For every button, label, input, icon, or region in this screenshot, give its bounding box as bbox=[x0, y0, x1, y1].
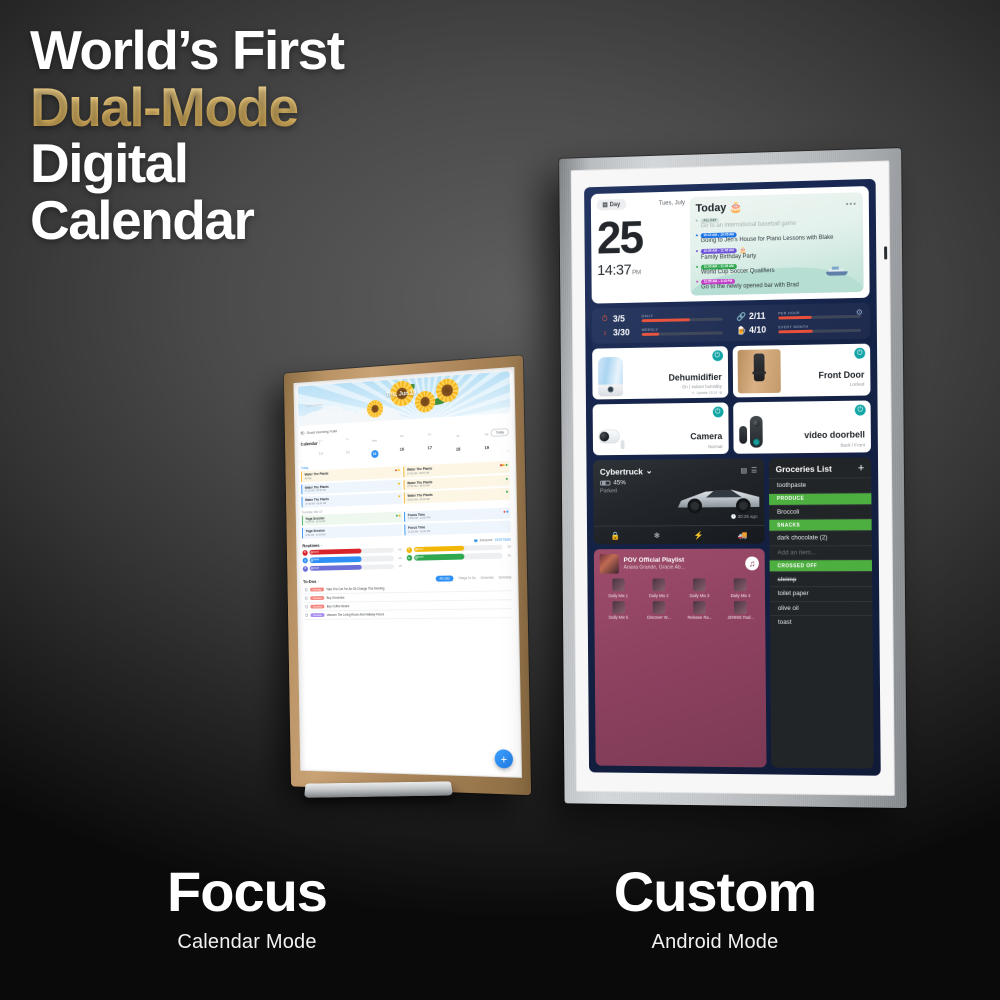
today-event[interactable]: ALL DAY Go to an international baseball … bbox=[696, 214, 857, 230]
custom-screen[interactable]: ▤ Day Tues, July 25 14:37PM bbox=[584, 179, 881, 776]
routine-row[interactable]: D David 4/6 bbox=[303, 555, 402, 563]
custom-subtitle: Android Mode bbox=[570, 931, 860, 954]
routine-row[interactable]: D David 3/5 bbox=[406, 544, 511, 553]
power-icon[interactable]: ⏻ bbox=[712, 407, 723, 418]
wood-frame: Thu, Jun 19 Yorks Farm 🌤 Good morning Yu… bbox=[284, 355, 531, 795]
device-card-camera[interactable]: ⏻ Camera Normal bbox=[593, 402, 729, 455]
tab-all-lists[interactable]: All Lists bbox=[436, 575, 454, 581]
day-and-today-widget[interactable]: ▤ Day Tues, July 25 14:37PM bbox=[591, 186, 870, 304]
device-name: video doorbell bbox=[804, 429, 865, 440]
habit-icon: 🍺 bbox=[736, 326, 745, 335]
battery-icon bbox=[600, 480, 611, 485]
device-name: Front Door bbox=[818, 370, 864, 381]
day-widget[interactable]: ▤ Day Tues, July 25 14:37PM bbox=[597, 197, 686, 297]
todo-text: Buy Coffee Beans bbox=[327, 604, 350, 608]
device-status: · On | Indoor humidity bbox=[679, 384, 722, 390]
day-cell[interactable]: Sa 18 bbox=[450, 434, 466, 455]
event-card[interactable]: Water The Plants 08:00 AM - 09:00 AM bbox=[404, 488, 510, 504]
focus-subtitle: Calendar Mode bbox=[112, 931, 382, 954]
custom-mode-device[interactable]: ▤ Day Tues, July 25 14:37PM bbox=[559, 148, 907, 808]
checkbox[interactable] bbox=[305, 588, 308, 591]
groceries-title: Groceries List bbox=[776, 464, 832, 474]
custom-title: Custom bbox=[570, 864, 860, 920]
day-cell[interactable]: Tue 14· bbox=[340, 438, 355, 462]
playlist-name: POV Official Playlist bbox=[624, 557, 741, 564]
next-week-arrow[interactable]: › bbox=[508, 448, 509, 453]
today-event[interactable]: 10:15 AM – 10:45 AM Going to Jen's House… bbox=[696, 229, 857, 245]
habit-icon: ♀ bbox=[601, 328, 610, 337]
smart-home-widget[interactable]: ⏻ Dehumidifier · On | Indoor humidity ↻ … bbox=[592, 344, 871, 456]
greeting-text: Good morning Yuki! bbox=[306, 428, 337, 435]
spotify-icon[interactable]: ♫ bbox=[745, 556, 759, 570]
list-item[interactable]: toast bbox=[770, 615, 872, 630]
avatar: D bbox=[406, 555, 412, 561]
doorbell-icon bbox=[739, 416, 767, 450]
focus-screen[interactable]: Thu, Jun 19 Yorks Farm 🌤 Good morning Yu… bbox=[293, 367, 522, 778]
focus-title: Focus bbox=[112, 864, 382, 920]
headline-line-4: Calendar bbox=[30, 192, 500, 249]
device-name: Camera bbox=[690, 431, 722, 441]
device-card-doorbell[interactable]: ⏻ video doorbell Back / Front bbox=[733, 400, 871, 453]
today-event[interactable]: 11:05 AM – 11:45 AM World Cup Soccer Qua… bbox=[696, 261, 857, 276]
device-card-dehumidifier[interactable]: ⏻ Dehumidifier · On | Indoor humidity ↻ … bbox=[592, 346, 728, 399]
list-item[interactable]: toilet paper bbox=[770, 586, 872, 601]
category-header: CROSSED OFF bbox=[770, 559, 872, 571]
mix-item[interactable]: Daily Mix 5 bbox=[600, 601, 637, 620]
todo-tag: Someday bbox=[310, 588, 324, 592]
device-update: ↻ Update 13:14 ⧉ bbox=[692, 391, 722, 395]
avatar: D bbox=[303, 558, 308, 564]
day-cell[interactable]: Mon 13· bbox=[313, 439, 328, 463]
habit-value: 4/10 bbox=[749, 325, 774, 335]
mix-item[interactable]: Release Ra... bbox=[681, 601, 718, 620]
vehicle-name[interactable]: Cybertruck ⌄ bbox=[600, 465, 653, 476]
device-status: Back / Front bbox=[840, 442, 865, 447]
list-item[interactable]: toothpaste bbox=[769, 477, 871, 492]
vehicle-widget[interactable]: Cybertruck ⌄ ▤ ☰ 45% bbox=[593, 458, 764, 544]
day-cell[interactable]: Fri 17· bbox=[422, 433, 438, 457]
climate-icon[interactable]: ❄ bbox=[654, 531, 661, 540]
refresh-icon: ↻ bbox=[692, 391, 695, 395]
add-item-button[interactable]: + bbox=[858, 464, 864, 473]
headline: World’s First Dual-Mode Digital Calendar bbox=[30, 22, 500, 249]
habit-icon: 🔗 bbox=[736, 312, 745, 321]
routines-tasks: 10/15 Tasks bbox=[494, 537, 510, 541]
bezel: ▤ Day Tues, July 25 14:37PM bbox=[571, 160, 895, 795]
calendar-icon: ▤ bbox=[602, 201, 607, 208]
avatar: D bbox=[406, 547, 412, 553]
prev-week-arrow[interactable]: ‹ bbox=[301, 459, 302, 464]
device-stand bbox=[304, 781, 453, 797]
device-status: Normal bbox=[708, 444, 722, 449]
custom-mode-label: Custom Android Mode bbox=[570, 864, 860, 954]
day-number: 25 bbox=[597, 215, 686, 260]
menu-icon[interactable]: ☰ bbox=[751, 466, 757, 474]
todo-tag: Groceries bbox=[310, 596, 324, 600]
category-header: SNACKS bbox=[769, 518, 871, 531]
habit-icon: ⏱ bbox=[600, 314, 609, 324]
headline-line-1: World’s First bbox=[30, 22, 500, 79]
routine-row[interactable]: D David 4/6 bbox=[302, 547, 401, 555]
habit-stat[interactable]: 🔗 2/11 PER HOUR bbox=[736, 309, 861, 321]
clock-icon: 🕐 bbox=[731, 514, 737, 519]
cake-emoji-icon: 🎂 bbox=[729, 202, 742, 214]
todo-text: Buy Groceries bbox=[327, 596, 345, 600]
list-item[interactable]: dark chocolate (2) bbox=[769, 530, 871, 545]
tab-groceries[interactable]: Groceries bbox=[481, 576, 494, 580]
music-widget[interactable]: POV Official Playlist Ariana Grande, Gra… bbox=[594, 549, 767, 768]
routine-row[interactable]: D David 3/5 bbox=[406, 552, 511, 560]
add-item-input[interactable]: Add an item... bbox=[769, 545, 871, 560]
more-options-icon[interactable]: ••• bbox=[846, 199, 857, 208]
power-icon[interactable]: ⏻ bbox=[712, 350, 723, 361]
day-widget-date: Tues, July bbox=[659, 200, 685, 207]
headline-line-2-accent: Dual-Mode bbox=[30, 79, 500, 136]
charge-icon[interactable]: ⚡ bbox=[694, 531, 704, 540]
focus-mode-device[interactable]: Thu, Jun 19 Yorks Farm 🌤 Good morning Yu… bbox=[284, 355, 531, 795]
silver-frame: ▤ Day Tues, July 25 14:37PM bbox=[559, 148, 907, 808]
people-icon: 👥 bbox=[474, 538, 478, 542]
habit-stat[interactable]: 🍺 4/10 EVERY MONTH bbox=[736, 323, 861, 335]
category-header: PRODUCE bbox=[769, 492, 871, 505]
power-icon[interactable]: ⏻ bbox=[855, 405, 866, 416]
day-cell-selected[interactable]: Wed 15 bbox=[367, 439, 383, 460]
external-link-icon[interactable]: ⧉ bbox=[719, 391, 722, 395]
device-status: Locked bbox=[850, 382, 865, 387]
habit-stat[interactable]: ♀ 3/30 WEEKLY bbox=[601, 326, 723, 338]
mix-item[interactable]: Discover W... bbox=[640, 601, 677, 620]
door-lock-icon bbox=[737, 349, 780, 393]
tab-someday[interactable]: Someday bbox=[499, 575, 512, 579]
todo-tabs[interactable]: All Lists Things To Do Groceries Someday bbox=[436, 574, 512, 581]
power-button[interactable] bbox=[884, 246, 887, 259]
todo-tag: Groceries bbox=[310, 605, 324, 609]
clock-time: 14:37PM bbox=[597, 260, 685, 279]
album-cover bbox=[600, 554, 619, 574]
habit-value: 2/11 bbox=[749, 311, 774, 321]
event-badge: 10:55 AM – 11:45 AM bbox=[701, 248, 737, 254]
chevron-down-icon[interactable]: ⌄ bbox=[646, 465, 653, 476]
today-title: Today 🎂 bbox=[696, 201, 743, 215]
day-view-chip[interactable]: ▤ Day bbox=[597, 199, 626, 211]
today-widget[interactable]: Today 🎂 ••• ALL DAY Go to an internation… bbox=[690, 192, 864, 295]
vehicle-controls[interactable]: 🔒 ❄ ⚡ 🚚 bbox=[594, 525, 765, 545]
trunk-icon[interactable]: 🚚 bbox=[738, 530, 748, 539]
device-card-front-door[interactable]: ⏻ Front Door Locked bbox=[732, 344, 870, 398]
dehumidifier-icon bbox=[598, 357, 623, 397]
day-cell[interactable]: Thu 16·· bbox=[394, 435, 410, 459]
habit-value: 3/30 bbox=[613, 327, 638, 337]
power-icon[interactable]: ⏻ bbox=[854, 348, 865, 359]
mix-item[interactable]: Daily Mix 2 bbox=[640, 578, 677, 597]
sun-emoji-icon: 🌤 bbox=[300, 430, 304, 435]
lock-icon[interactable]: 🔒 bbox=[610, 531, 620, 540]
todos-heading: To-Dos › bbox=[303, 579, 319, 584]
avatar: D bbox=[303, 566, 308, 572]
todo-list: Someday Take The Car For An Oil Change T… bbox=[297, 582, 519, 620]
day-cell[interactable]: Sat 19 bbox=[478, 433, 495, 455]
mix-item[interactable]: Daily Mix 4 bbox=[722, 578, 759, 597]
list-item[interactable]: Broccoli bbox=[769, 504, 871, 519]
mix-item[interactable]: Daily Mix 3 bbox=[681, 578, 718, 597]
add-button[interactable]: + bbox=[495, 749, 514, 768]
vehicle-last-update: 🕐 30:26 ago bbox=[731, 514, 758, 520]
todo-text: Vacuum The Living Room And Hallway Floor… bbox=[327, 613, 385, 617]
bottom-widgets-row: Cybertruck ⌄ ▤ ☰ 45% bbox=[593, 457, 874, 768]
list-item-crossed[interactable]: shrimp bbox=[770, 571, 872, 586]
event-card[interactable]: Focus Time 11:00 AM - 01:00 PM bbox=[404, 521, 510, 536]
cake-emoji-icon: 🎂 bbox=[739, 246, 746, 253]
routines-list: D David 4/6 D David 3/5 D David 4/6 D Da… bbox=[302, 544, 511, 574]
list-item[interactable]: olive oil bbox=[770, 601, 872, 616]
camera-icon bbox=[599, 425, 628, 449]
list-item[interactable]: Someday Vacuum The Living Room And Hallw… bbox=[304, 609, 513, 620]
checkbox[interactable] bbox=[305, 605, 308, 608]
cybertruck-illustration bbox=[678, 477, 760, 515]
playlist-artists: Ariana Grande, Gracie Ab... bbox=[624, 564, 741, 570]
checkbox[interactable] bbox=[305, 614, 308, 617]
message-icon[interactable]: ▤ bbox=[741, 466, 748, 474]
routines-heading: Routines › bbox=[302, 543, 322, 548]
habit-stats-widget[interactable]: ⚙ ⏱ 3/5 DAILY 🔗 2/11 PER HOUR bbox=[592, 303, 870, 344]
habit-value: 3/5 bbox=[613, 313, 638, 323]
event-card[interactable]: Water The Plants 07:45 AM - 08:45 AM bbox=[301, 492, 402, 507]
mix-grid[interactable]: Daily Mix 1 Daily Mix 2 Daily Mix 3 Dail… bbox=[600, 578, 760, 620]
headline-line-3: Digital bbox=[30, 135, 500, 192]
tab-things-to-do[interactable]: Things To Do bbox=[458, 576, 476, 580]
routine-row[interactable]: D David 4/6 bbox=[303, 563, 402, 571]
event-card[interactable]: Yoga Session 9:30 AM - 10:30 AM bbox=[302, 524, 403, 538]
today-event[interactable]: 10:55 AM – 11:45 AM 🎂 Family Birthday Pa… bbox=[696, 244, 857, 261]
habit-stat[interactable]: ⏱ 3/5 DAILY bbox=[600, 312, 722, 324]
mix-item[interactable]: Daily Mix 1 bbox=[600, 579, 637, 598]
calendar-banner: Thu, Jun 19 Yorks Farm bbox=[298, 371, 511, 426]
todo-text: Take The Car For An Oil Change This Morn… bbox=[326, 586, 384, 591]
avatar: D bbox=[302, 550, 307, 556]
device-name: Dehumidifier bbox=[669, 372, 722, 383]
routines-assignee: Everyone bbox=[480, 538, 493, 542]
checkbox[interactable] bbox=[305, 597, 308, 600]
groceries-widget[interactable]: Groceries List + toothpaste PRODUCE Broc… bbox=[769, 457, 874, 768]
todo-tag: Someday bbox=[310, 613, 324, 617]
focus-mode-label: Focus Calendar Mode bbox=[112, 864, 382, 954]
mix-item[interactable]: JENNIE Rad... bbox=[722, 601, 759, 620]
